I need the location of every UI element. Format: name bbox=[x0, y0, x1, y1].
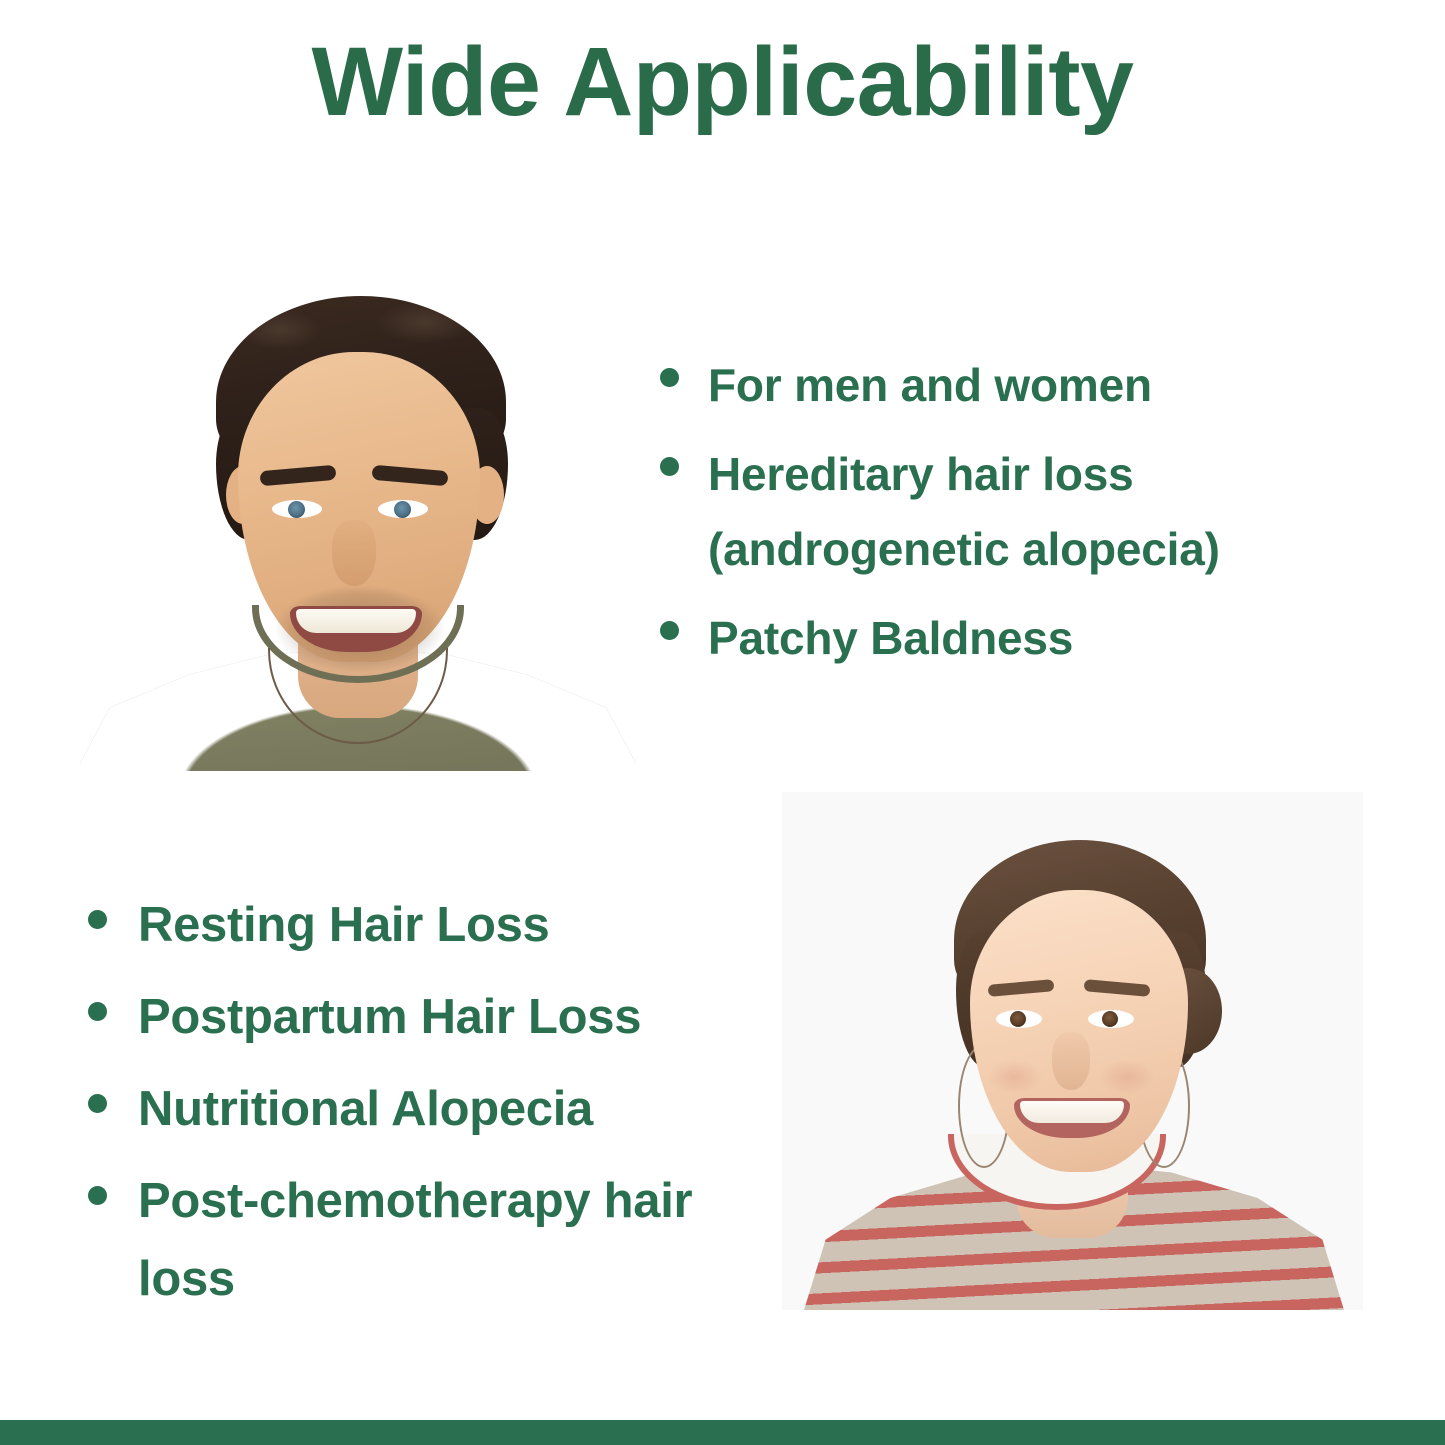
woman-nose bbox=[1052, 1032, 1090, 1090]
bottom-accent-bar bbox=[0, 1420, 1445, 1445]
applicability-list-right: For men and women Hereditary hair loss (… bbox=[660, 348, 1370, 676]
list-item: Hereditary hair loss (androgenetic alope… bbox=[660, 437, 1370, 587]
woman-eye-right bbox=[1088, 1010, 1134, 1028]
man-teeth bbox=[296, 609, 416, 633]
bullet-dot-icon bbox=[660, 457, 679, 476]
woman-eye-left bbox=[996, 1010, 1042, 1028]
list-item: For men and women bbox=[660, 348, 1370, 423]
list-item-label: Postpartum Hair Loss bbox=[88, 978, 768, 1056]
list-item: Resting Hair Loss bbox=[88, 886, 768, 964]
man-eye-right bbox=[378, 500, 428, 518]
bullet-dot-icon bbox=[88, 1002, 107, 1021]
list-item-label: Resting Hair Loss bbox=[88, 886, 768, 964]
bullet-dot-icon bbox=[660, 368, 679, 387]
list-item: Patchy Baldness bbox=[660, 601, 1370, 676]
man-portrait-photo bbox=[80, 268, 636, 771]
list-item-label: For men and women bbox=[660, 348, 1370, 423]
list-item-label: Post-chemotherapy hair loss bbox=[88, 1162, 768, 1318]
list-item-label: Patchy Baldness bbox=[660, 601, 1370, 676]
applicability-list-left: Resting Hair Loss Postpartum Hair Loss N… bbox=[88, 886, 768, 1318]
bullet-dot-icon bbox=[88, 1186, 107, 1205]
woman-cheek-left bbox=[988, 1060, 1042, 1094]
list-item: Nutritional Alopecia bbox=[88, 1070, 768, 1148]
list-item-label: Hereditary hair loss (androgenetic alope… bbox=[660, 437, 1370, 587]
page-title: Wide Applicability bbox=[0, 30, 1445, 135]
woman-cheek-right bbox=[1100, 1060, 1154, 1094]
list-item: Post-chemotherapy hair loss bbox=[88, 1162, 768, 1318]
woman-teeth bbox=[1020, 1101, 1124, 1123]
bullet-dot-icon bbox=[660, 621, 679, 640]
woman-portrait-photo bbox=[782, 792, 1363, 1310]
list-item: Postpartum Hair Loss bbox=[88, 978, 768, 1056]
infographic-page: Wide Applicability For men and women Her… bbox=[0, 0, 1445, 1445]
bullet-dot-icon bbox=[88, 1094, 107, 1113]
list-item-label: Nutritional Alopecia bbox=[88, 1070, 768, 1148]
bullet-dot-icon bbox=[88, 910, 107, 929]
man-eye-left bbox=[272, 500, 322, 518]
